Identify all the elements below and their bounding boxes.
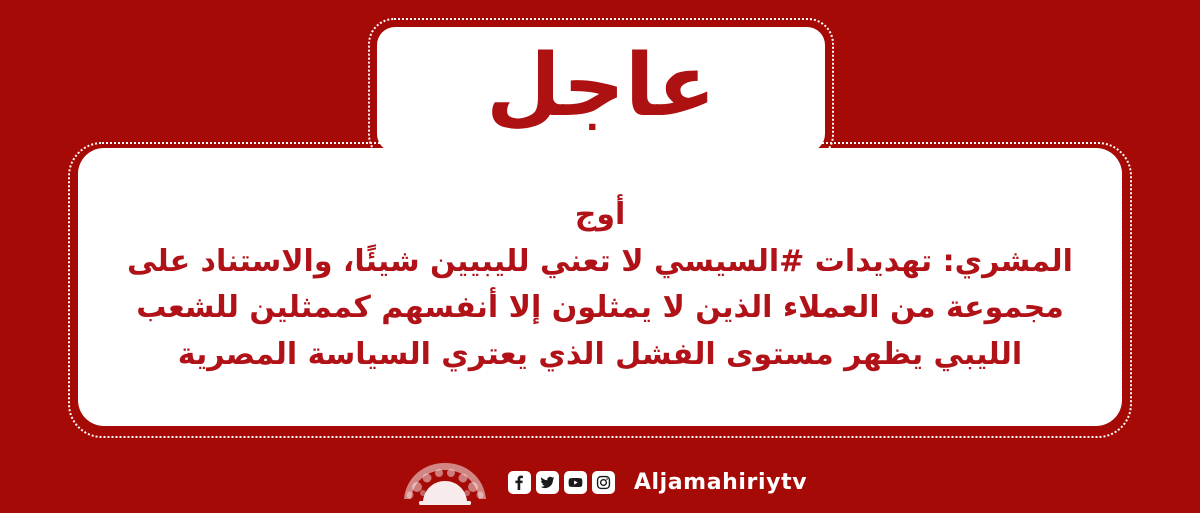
aljamahiriya-dome-logo [393,457,497,509]
headline-line: الليبي يظهر مستوى الفشل الذي يعتري السيا… [104,332,1096,379]
social-handle: Aljamahiriytv [634,470,807,495]
instagram-icon[interactable] [592,471,615,494]
breaking-news-banner: عاجل أوج المشري: تهديدات #السيسي لا تعني… [0,0,1200,513]
badge-panel: عاجل [377,27,825,152]
headline-line: مجموعة من العملاء الذين لا يمثلون إلا أن… [104,285,1096,332]
twitter-icon[interactable] [536,471,559,494]
youtube-icon[interactable] [564,471,587,494]
breaking-badge: عاجل [377,27,825,152]
facebook-icon[interactable] [508,471,531,494]
headline-line: المشري: تهديدات #السيسي لا تعني لليبيين … [104,239,1096,286]
headline-text: أوج المشري: تهديدات #السيسي لا تعني لليب… [104,192,1096,378]
headline-line: أوج [104,192,1096,239]
social-icon-row [508,471,615,494]
news-card: أوج المشري: تهديدات #السيسي لا تعني لليب… [78,148,1122,426]
badge-label: عاجل [486,43,716,137]
footer-bar: Aljamahiriytv [0,452,1200,513]
